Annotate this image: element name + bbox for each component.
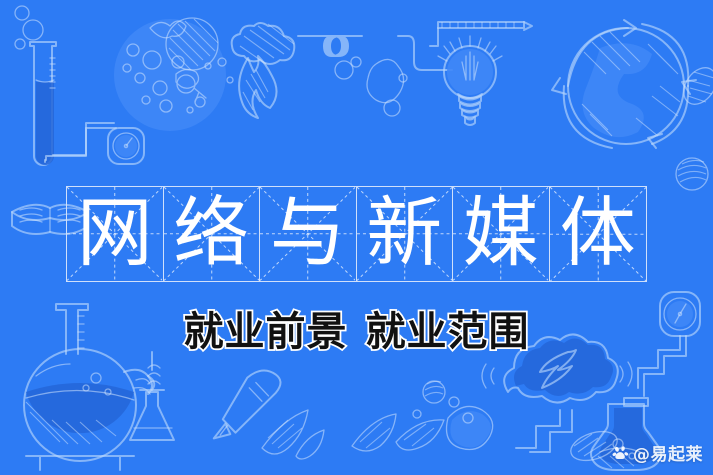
title-char: 媒 <box>463 195 539 271</box>
title-grid-cell: 与 <box>260 187 357 281</box>
test-tube-icon <box>30 42 56 165</box>
title-grid-cell: 络 <box>164 187 261 281</box>
title-char: 新 <box>366 195 442 271</box>
watermark: @易起莱 <box>612 440 703 465</box>
globe-recycle-icon <box>552 20 696 148</box>
title-grid-cell: 新 <box>357 187 454 281</box>
title-char: 络 <box>173 195 249 271</box>
lightbulb-icon <box>438 36 502 125</box>
title-char: 体 <box>560 195 636 271</box>
tube-wire <box>46 128 116 160</box>
subtitle-part-two: 就业范围 <box>366 309 530 355</box>
title-grid: 网 络 与 新 <box>66 186 647 282</box>
subtitle: 就业前景就业范围 <box>0 306 713 358</box>
microbe-cluster-icon <box>114 18 233 131</box>
hatched-cloud-icon <box>232 23 295 64</box>
coil-wire-icon <box>298 22 532 70</box>
hatched-ball-icon <box>676 158 708 190</box>
title-grid-cell: 体 <box>550 187 647 281</box>
title-char: 网 <box>77 195 153 271</box>
fountain-pen-icon <box>214 367 282 440</box>
amoeba-blob-icon <box>335 57 407 116</box>
hatched-sphere-icon <box>166 18 218 70</box>
bubbles-icon <box>15 6 43 49</box>
subtitle-part-one: 就业前景 <box>184 309 348 355</box>
watermark-handle: @易起莱 <box>633 440 703 465</box>
blob-icon <box>413 381 493 450</box>
pressure-gauge-icon <box>108 128 144 164</box>
flame-icon <box>239 56 276 118</box>
title-char: 与 <box>270 195 346 271</box>
baidu-paw-icon <box>612 444 629 461</box>
leaf-flame-icon <box>262 410 444 459</box>
hatched-capsule-icon <box>677 62 713 111</box>
erlenmeyer-flask-icon <box>130 352 174 440</box>
title-grid-cell: 媒 <box>453 187 550 281</box>
poster-canvas: 网 络 与 新 <box>0 0 713 475</box>
title-grid-cell: 网 <box>67 187 164 281</box>
